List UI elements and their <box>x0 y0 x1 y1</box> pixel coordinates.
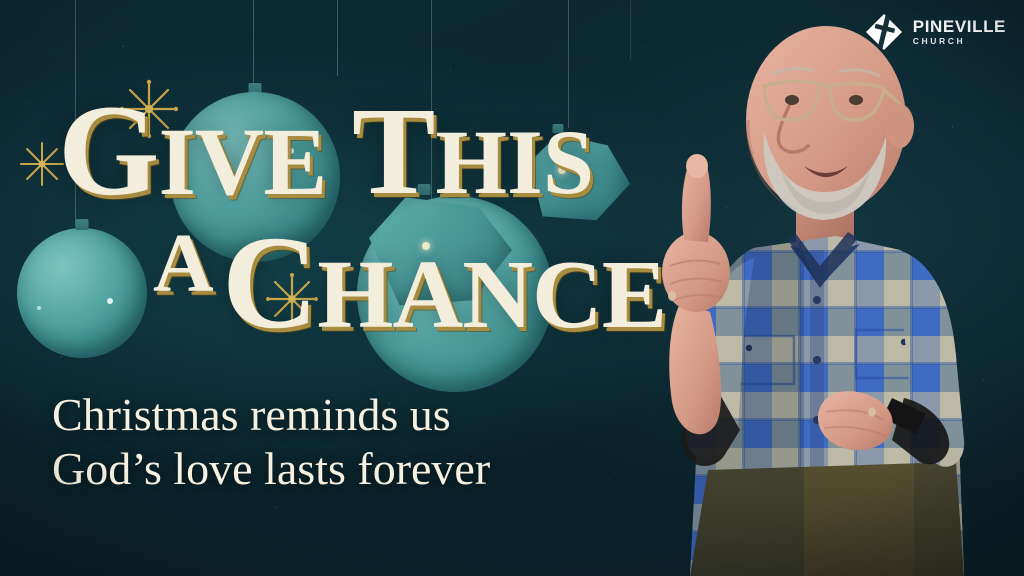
caption-text: Christmas reminds us God’s love lasts fo… <box>52 388 612 496</box>
speaker-photo <box>604 0 1024 576</box>
title-word-this-lead: T <box>352 83 435 221</box>
sermon-title: GIVE THIS A CHANCE <box>0 0 640 380</box>
slide-canvas: GIVE THIS A CHANCE Christmas reminds us … <box>0 0 1024 576</box>
title-word-chance: CHANCE <box>222 216 666 349</box>
title-word-this-rest: HIS <box>435 111 594 213</box>
logo[interactable]: PINEVILLE CHURCH <box>864 12 1006 52</box>
logo-name: PINEVILLE <box>913 18 1006 35</box>
logo-subtitle: CHURCH <box>913 37 1006 46</box>
title-word-a: A <box>153 222 214 306</box>
caption-line-1: Christmas reminds us <box>52 388 612 442</box>
title-word-chance-lead: C <box>222 208 317 356</box>
title-word-give-lead: G <box>58 79 159 223</box>
title-word-a-lead: A <box>153 217 214 310</box>
logo-text: PINEVILLE CHURCH <box>913 18 1006 46</box>
diamond-cross-icon <box>864 12 904 52</box>
title-word-this: THIS <box>352 90 594 215</box>
caption-line-2: God’s love lasts forever <box>52 442 612 496</box>
title-word-give-rest: IVE <box>159 108 327 215</box>
title-word-give: GIVE <box>58 86 326 217</box>
